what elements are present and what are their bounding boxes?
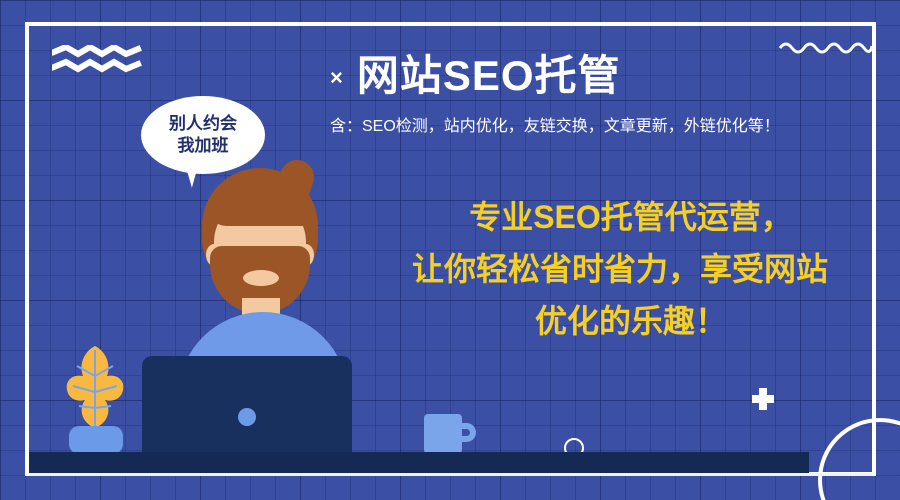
banner-canvas: × 网站SEO托管 含：SEO检测，站内优化，友链交换，文章更新，外链优化等！ … <box>0 0 900 500</box>
laptop-logo-dot-icon <box>238 408 256 426</box>
headline-line-2: 让你轻松省时省力，享受网站 <box>370 244 870 296</box>
banner-title-row: × 网站SEO托管 <box>330 46 810 106</box>
speech-bubble: 别人约会 我加班 <box>141 96 265 174</box>
speech-bubble-line-2: 我加班 <box>178 135 229 157</box>
potted-plant-icon <box>55 340 135 455</box>
banner-headline: 专业SEO托管代运营， 让你轻松省时省力，享受网站 优化的乐趣！ <box>392 192 870 347</box>
mouth-shape <box>243 270 279 286</box>
banner-subtitle: 含：SEO检测，站内优化，友链交换，文章更新，外链优化等！ <box>330 116 890 138</box>
hair-fringe-shape <box>210 190 310 226</box>
page-title: 网站SEO托管 <box>357 55 621 97</box>
plant-pot-shape <box>69 426 123 454</box>
desk-edge-line <box>29 473 872 476</box>
speech-bubble-line-1: 别人约会 <box>169 113 237 135</box>
desk-surface <box>29 452 809 473</box>
plus-icon <box>752 388 774 410</box>
close-icon[interactable]: × <box>330 67 343 89</box>
headline-line-1: 专业SEO托管代运营， <box>392 192 870 244</box>
headline-line-3: 优化的乐趣！ <box>392 296 870 348</box>
person-at-laptop-illustration <box>150 160 410 480</box>
coffee-mug-icon <box>424 414 462 456</box>
